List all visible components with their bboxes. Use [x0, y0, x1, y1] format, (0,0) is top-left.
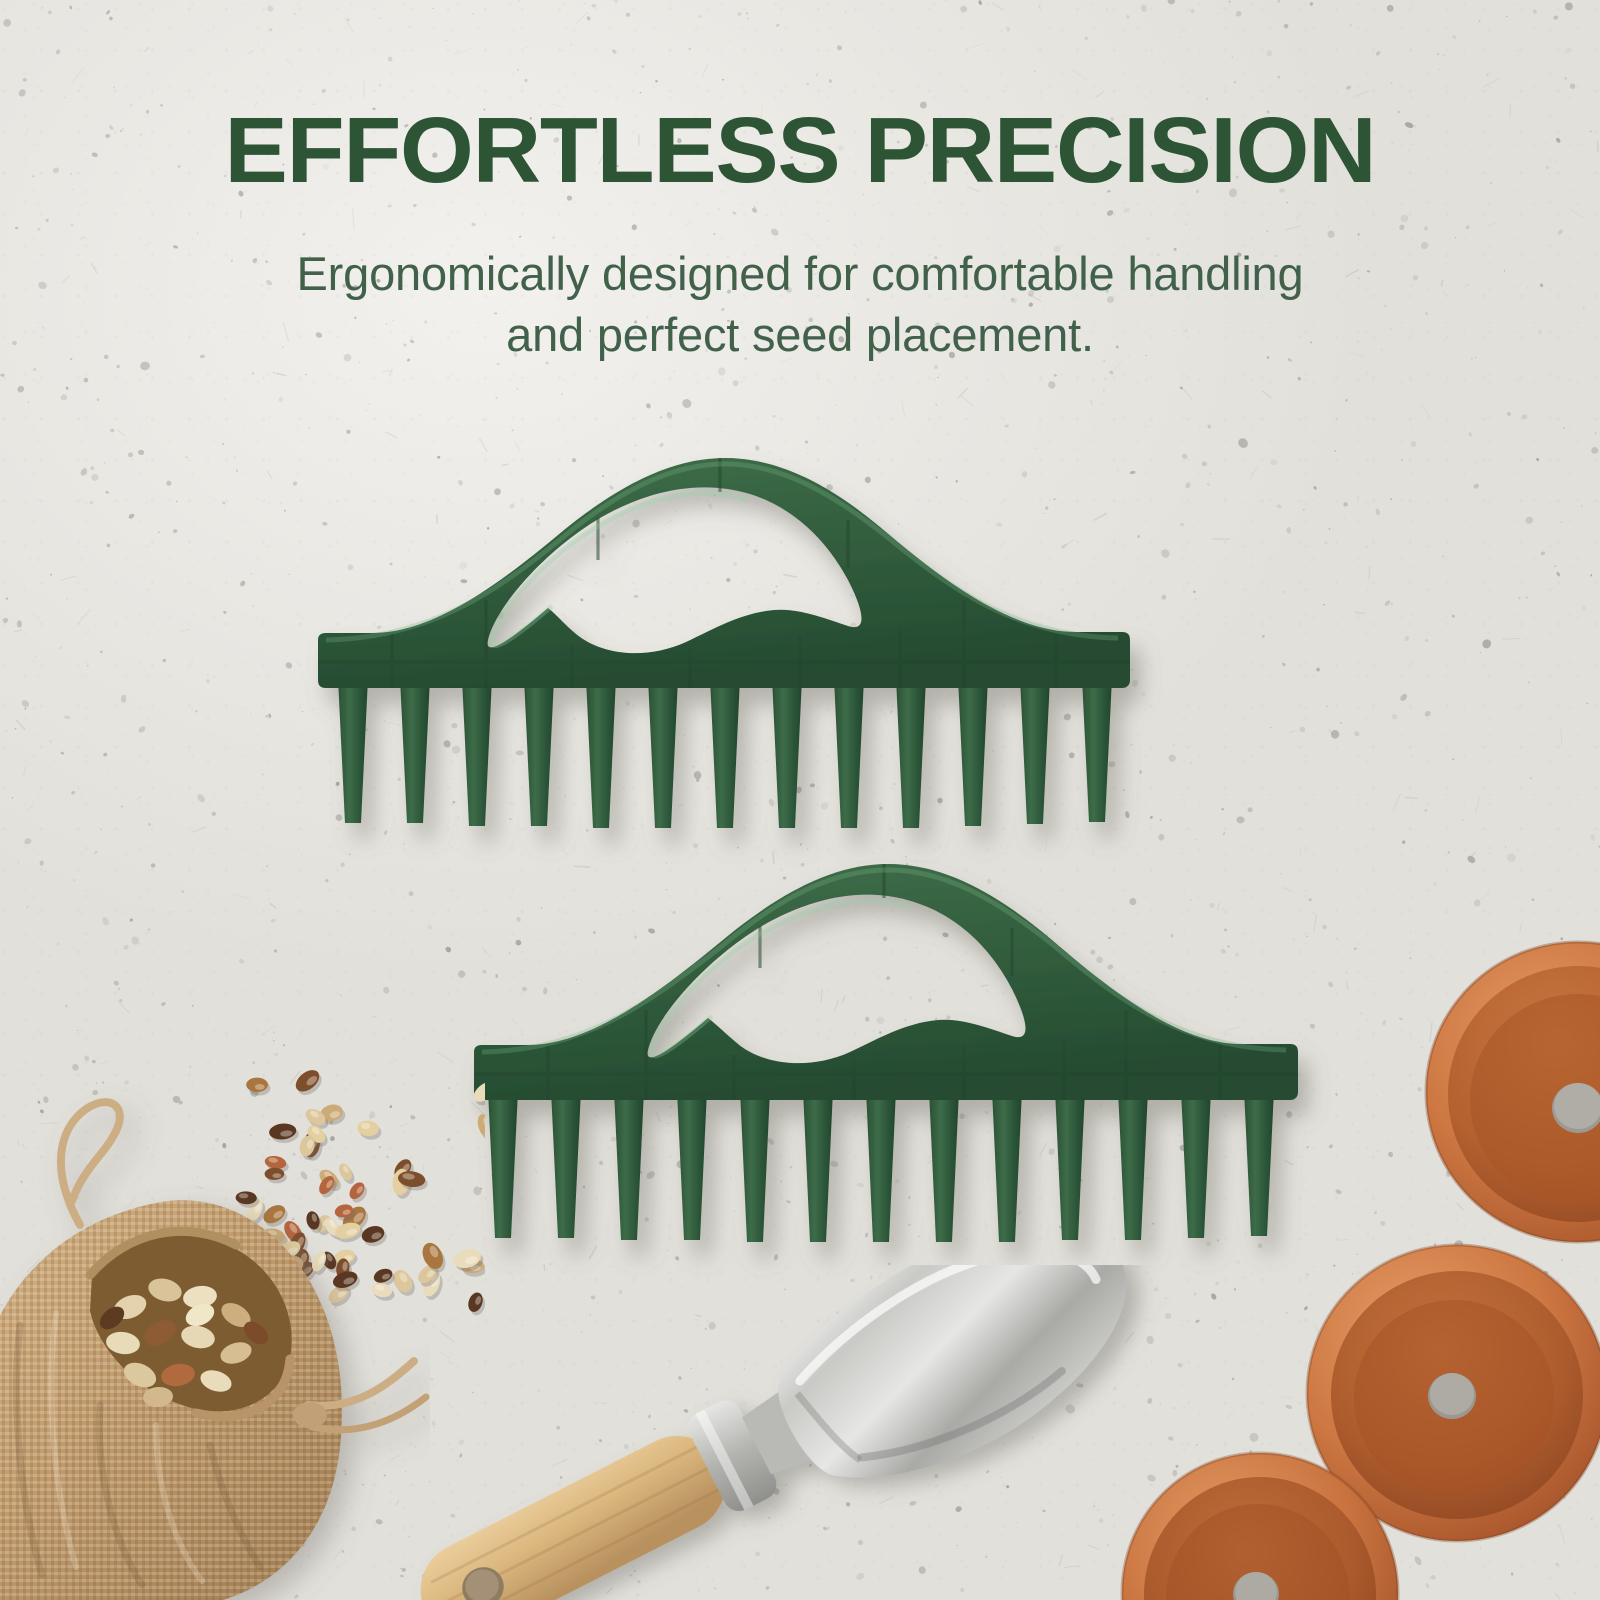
- page-subheadline: Ergonomically designed for comfortable h…: [175, 243, 1425, 365]
- tool-spikes-lower: [488, 1090, 1274, 1242]
- product-marketing-image: EFFORTLESS PRECISION Ergonomically desig…: [0, 0, 1600, 1600]
- trowel-blade: [749, 1265, 1167, 1520]
- tool-spikes-upper: [338, 678, 1112, 828]
- page-headline: EFFORTLESS PRECISION: [0, 104, 1600, 197]
- subheadline-line-2: and perfect seed placement.: [175, 304, 1425, 365]
- seed-spacing-tool-lower[interactable]: [458, 840, 1318, 1260]
- subheadline-line-1: Ergonomically designed for comfortable h…: [175, 243, 1425, 304]
- garden-trowel: [320, 1265, 1200, 1600]
- seed-spacing-tool-upper[interactable]: [300, 440, 1150, 850]
